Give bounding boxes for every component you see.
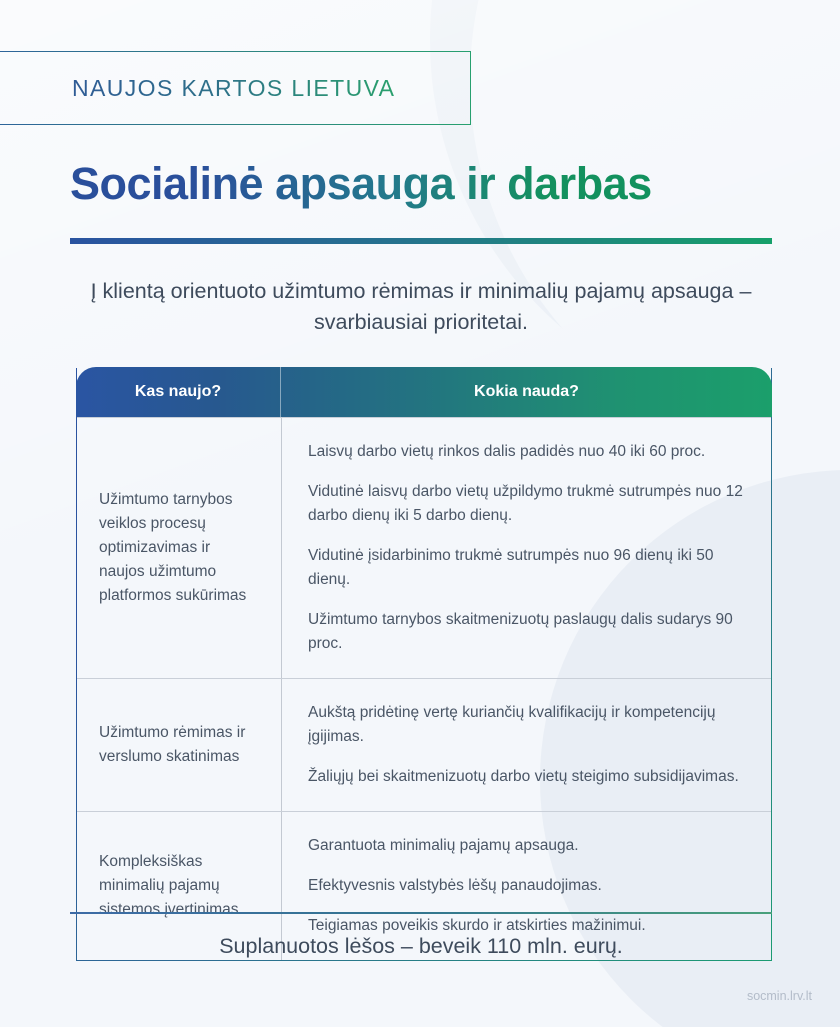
benefit-item: Efektyvesnis valstybės lėšų panaudojimas… [308, 874, 747, 898]
table-header-cell-measure: Kas naujo? [76, 367, 280, 417]
benefit-item: Garantuota minimalių pajamų apsauga. [308, 834, 747, 858]
benefit-item: Žaliųjų bei skaitmenizuotų darbo vietų s… [308, 765, 747, 789]
footer-divider [70, 912, 772, 914]
brand-eyebrow-label: NAUJOS KARTOS LIETUVA [72, 75, 395, 102]
priorities-table: Kas naujo? Kokia nauda? Užimtumo tarnybo… [76, 368, 772, 961]
benefit-item: Užimtumo tarnybos skaitmenizuotų paslaug… [308, 608, 747, 656]
table-cell-measure: Užimtumo rėmimas ir verslumo skatinimas [77, 679, 281, 811]
table-header-cell-benefit: Kokia nauda? [280, 367, 772, 417]
table-header-row: Kas naujo? Kokia nauda? [76, 367, 772, 417]
page-subtitle: Į klientą orientuoto užimtumo rėmimas ir… [70, 276, 772, 338]
title-underline-rule [70, 238, 772, 244]
table-row: Užimtumo rėmimas ir verslumo skatinimas … [77, 678, 771, 811]
benefit-item: Vidutinė laisvų darbo vietų užpildymo tr… [308, 480, 747, 528]
table-cell-measure: Užimtumo tarnybos veiklos procesų optimi… [77, 418, 281, 678]
benefit-item: Laisvų darbo vietų rinkos dalis padidės … [308, 440, 747, 464]
table-cell-benefits: Laisvų darbo vietų rinkos dalis padidės … [281, 418, 771, 678]
benefit-item: Aukštą pridėtinę vertę kuriančių kvalifi… [308, 701, 747, 749]
table-row: Užimtumo tarnybos veiklos procesų optimi… [77, 417, 771, 678]
brand-eyebrow-box: NAUJOS KARTOS LIETUVA [0, 51, 471, 125]
page-title: Socialinė apsauga ir darbas [70, 158, 652, 210]
footer-funding-text: Suplanuotos lėšos – beveik 110 mln. eurų… [70, 934, 772, 959]
table-cell-benefits: Aukštą pridėtinę vertę kuriančių kvalifi… [281, 679, 771, 811]
infographic-page: NAUJOS KARTOS LIETUVA Socialinė apsauga … [0, 0, 840, 1027]
site-url-label: socmin.lrv.lt [747, 989, 812, 1003]
benefit-item: Vidutinė įsidarbinimo trukmė sutrumpės n… [308, 544, 747, 592]
